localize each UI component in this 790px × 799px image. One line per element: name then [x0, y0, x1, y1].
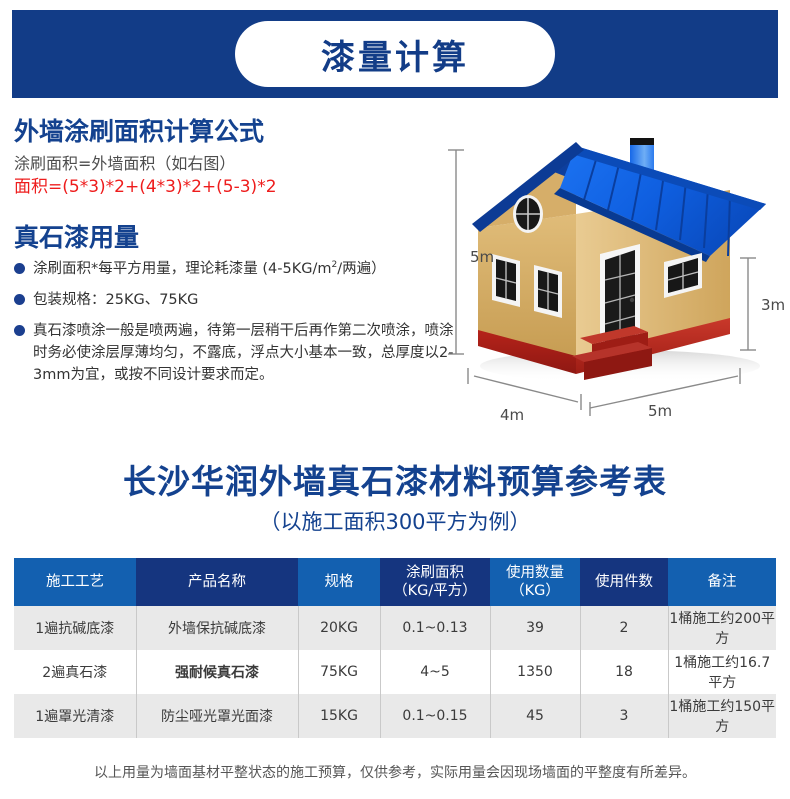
cell-amount: 45: [490, 694, 580, 738]
cell-spec: 15KG: [298, 694, 380, 738]
cell-pieces: 2: [580, 606, 668, 650]
list-item: 真石漆喷涂一般是喷两遍，待第一层稍干后再作第二次喷涂，喷涂时务必使涂层厚薄均匀，…: [14, 320, 462, 386]
formula-line-2: 面积=(5*3)*2+(4*3)*2+(5-3)*2: [14, 176, 454, 198]
cell-spec: 75KG: [298, 650, 380, 694]
cell-remark: 1桶施工约16.7平方: [668, 650, 776, 694]
column-header-pieces: 使用件数: [580, 558, 668, 606]
column-header-amount: 使用数量 （KG）: [490, 558, 580, 606]
header-title-pill: 漆量计算: [235, 21, 555, 87]
cell-product: 强耐候真石漆: [136, 650, 298, 694]
header-banner: 漆量计算: [12, 10, 778, 98]
column-header-product: 产品名称: [136, 558, 298, 606]
usage-heading: 真石漆用量: [14, 218, 139, 254]
table-row: 1遍抗碱底漆 外墙保抗碱底漆 20KG 0.1~0.13 39 2 1桶施工约2…: [14, 606, 776, 650]
list-item: 涂刷面积*每平方用量，理论耗漆量 (4-5KG/m2/两遍）: [14, 258, 462, 280]
cell-spec: 20KG: [298, 606, 380, 650]
column-header-coverage: 涂刷面积 （KG/平方）: [380, 558, 490, 606]
list-item-label: 包装规格：25KG、75KG: [33, 289, 198, 311]
list-item: 包装规格：25KG、75KG: [14, 289, 462, 311]
formula-line-1: 涂刷面积=外墙面积（如右图）: [14, 153, 454, 175]
cell-coverage: 0.1~0.15: [380, 694, 490, 738]
door-knob: [630, 298, 634, 302]
budget-table: 施工工艺 产品名称 规格 涂刷面积 （KG/平方） 使用数量 （KG）: [14, 558, 776, 738]
dimension-left-label: 5m: [470, 248, 494, 266]
table-header-row: 施工工艺 产品名称 规格 涂刷面积 （KG/平方） 使用数量 （KG）: [14, 558, 776, 606]
column-header-spec: 规格: [298, 558, 380, 606]
cell-process: 2遍真石漆: [14, 650, 136, 694]
list-item-label: 真石漆喷涂一般是喷两遍，待第一层稍干后再作第二次喷涂，喷涂时务必使涂层厚薄均匀，…: [33, 320, 462, 386]
table-row: 2遍真石漆 强耐候真石漆 75KG 4~5 1350 18 1桶施工约16.7平…: [14, 650, 776, 694]
column-header-remark: 备注: [668, 558, 776, 606]
formula-heading: 外墙涂刷面积计算公式: [14, 118, 454, 147]
column-header-process: 施工工艺: [14, 558, 136, 606]
cell-amount: 39: [490, 606, 580, 650]
formula-block: 外墙涂刷面积计算公式 涂刷面积=外墙面积（如右图） 面积=(5*3)*2+(4*…: [14, 118, 454, 198]
cell-process: 1遍抗碱底漆: [14, 606, 136, 650]
cell-remark: 1桶施工约150平方: [668, 694, 776, 738]
dimension-left: [448, 150, 464, 354]
chimney-cap: [630, 138, 654, 145]
table-footnote: 以上用量为墙面基材平整状态的施工预算，仅供参考，实际用量会因现场墙面的平整度有所…: [0, 762, 790, 782]
cell-process: 1遍罩光清漆: [14, 694, 136, 738]
house-svg: 5m 3m 4m 5m: [448, 128, 790, 428]
cell-product: 外墙保抗碱底漆: [136, 606, 298, 650]
cell-coverage: 4~5: [380, 650, 490, 694]
usage-bullet-list: 涂刷面积*每平方用量，理论耗漆量 (4-5KG/m2/两遍） 包装规格：25KG…: [14, 258, 462, 395]
bullet-dot-icon: [14, 325, 25, 336]
cell-remark: 1桶施工约200平方: [668, 606, 776, 650]
dimension-right: [740, 258, 756, 350]
section-subtitle: （以施工面积300平方为例）: [0, 506, 790, 536]
cell-coverage: 0.1~0.13: [380, 606, 490, 650]
cell-amount: 1350: [490, 650, 580, 694]
cell-pieces: 18: [580, 650, 668, 694]
table-row: 1遍罩光清漆 防尘哑光罩光面漆 15KG 0.1~0.15 45 3 1桶施工约…: [14, 694, 776, 738]
dimension-bottom-left-label: 4m: [500, 406, 524, 424]
house-illustration: 5m 3m 4m 5m: [448, 128, 790, 428]
budget-table-wrapper: 施工工艺 产品名称 规格 涂刷面积 （KG/平方） 使用数量 （KG）: [14, 558, 776, 738]
cell-pieces: 3: [580, 694, 668, 738]
dimension-bottom-right-label: 5m: [648, 402, 672, 420]
section-title: 长沙华润外墙真石漆材料预算参考表: [0, 455, 790, 503]
page-title: 漆量计算: [321, 30, 469, 79]
list-item-label: 涂刷面积*每平方用量，理论耗漆量 (4-5KG/m2/两遍）: [33, 258, 386, 280]
bullet-dot-icon: [14, 294, 25, 305]
cell-product: 防尘哑光罩光面漆: [136, 694, 298, 738]
bullet-dot-icon: [14, 263, 25, 274]
dimension-right-label: 3m: [761, 296, 785, 314]
paint-calculation-page: 漆量计算 外墙涂刷面积计算公式 涂刷面积=外墙面积（如右图） 面积=(5*3)*…: [0, 0, 790, 799]
